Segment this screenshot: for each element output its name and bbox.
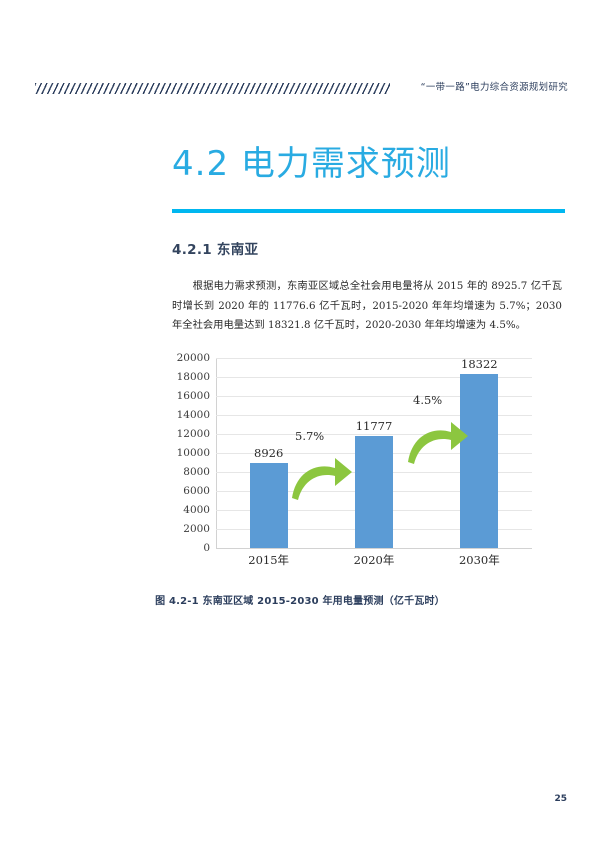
page-number: 25 [554,794,567,804]
chart-y-tick-label: 8000 [150,466,210,478]
chart-y-tick-label: 18000 [150,371,210,383]
chart-y-tick-label: 0 [150,542,210,554]
document-page: “一带一路”电力综合资源规划研究 4.2 电力需求预测 4.2.1 东南亚 根据… [0,0,600,848]
chart-x-tick-label: 2015年 [214,552,324,568]
growth-annotation-1: 5.7% [295,429,324,443]
title-underline-rule [172,209,565,213]
running-header-title: “一带一路”电力综合资源规划研究 [421,79,568,93]
chart-x-tick-label: 2020年 [319,552,429,568]
growth-annotation-2: 4.5% [413,393,442,407]
chart-bar-value-label: 18322 [439,357,519,371]
section-heading: 4.2.1 东南亚 [172,238,258,258]
diagonal-hatch-rule-icon [35,83,390,94]
chart-x-tick-label: 2030年 [424,552,534,568]
chart-bar [355,436,393,548]
chart-y-tick-label: 6000 [150,485,210,497]
chart-gridline [216,548,532,549]
chart-y-tick-label: 14000 [150,409,210,421]
chart-y-tick-label: 4000 [150,504,210,516]
chart-bar [250,463,288,548]
growth-arrow-1-icon [286,446,356,504]
chart-y-tick-label: 20000 [150,352,210,364]
bar-chart: 2000018000160001400012000100008000600040… [170,358,532,576]
chart-y-tick-label: 16000 [150,390,210,402]
growth-arrow-2-icon [402,410,472,468]
figure-caption: 图 4.2-1 东南亚区域 2015-2030 年用电量预测（亿千瓦时） [0,592,600,607]
chart-y-tick-label: 10000 [150,447,210,459]
page-title: 4.2 电力需求预测 [172,136,451,185]
body-paragraph: 根据电力需求预测，东南亚区域总全社会用电量将从 2015 年的 8925.7 亿… [172,277,562,336]
chart-y-tick-label: 12000 [150,428,210,440]
chart-y-tick-label: 2000 [150,523,210,535]
